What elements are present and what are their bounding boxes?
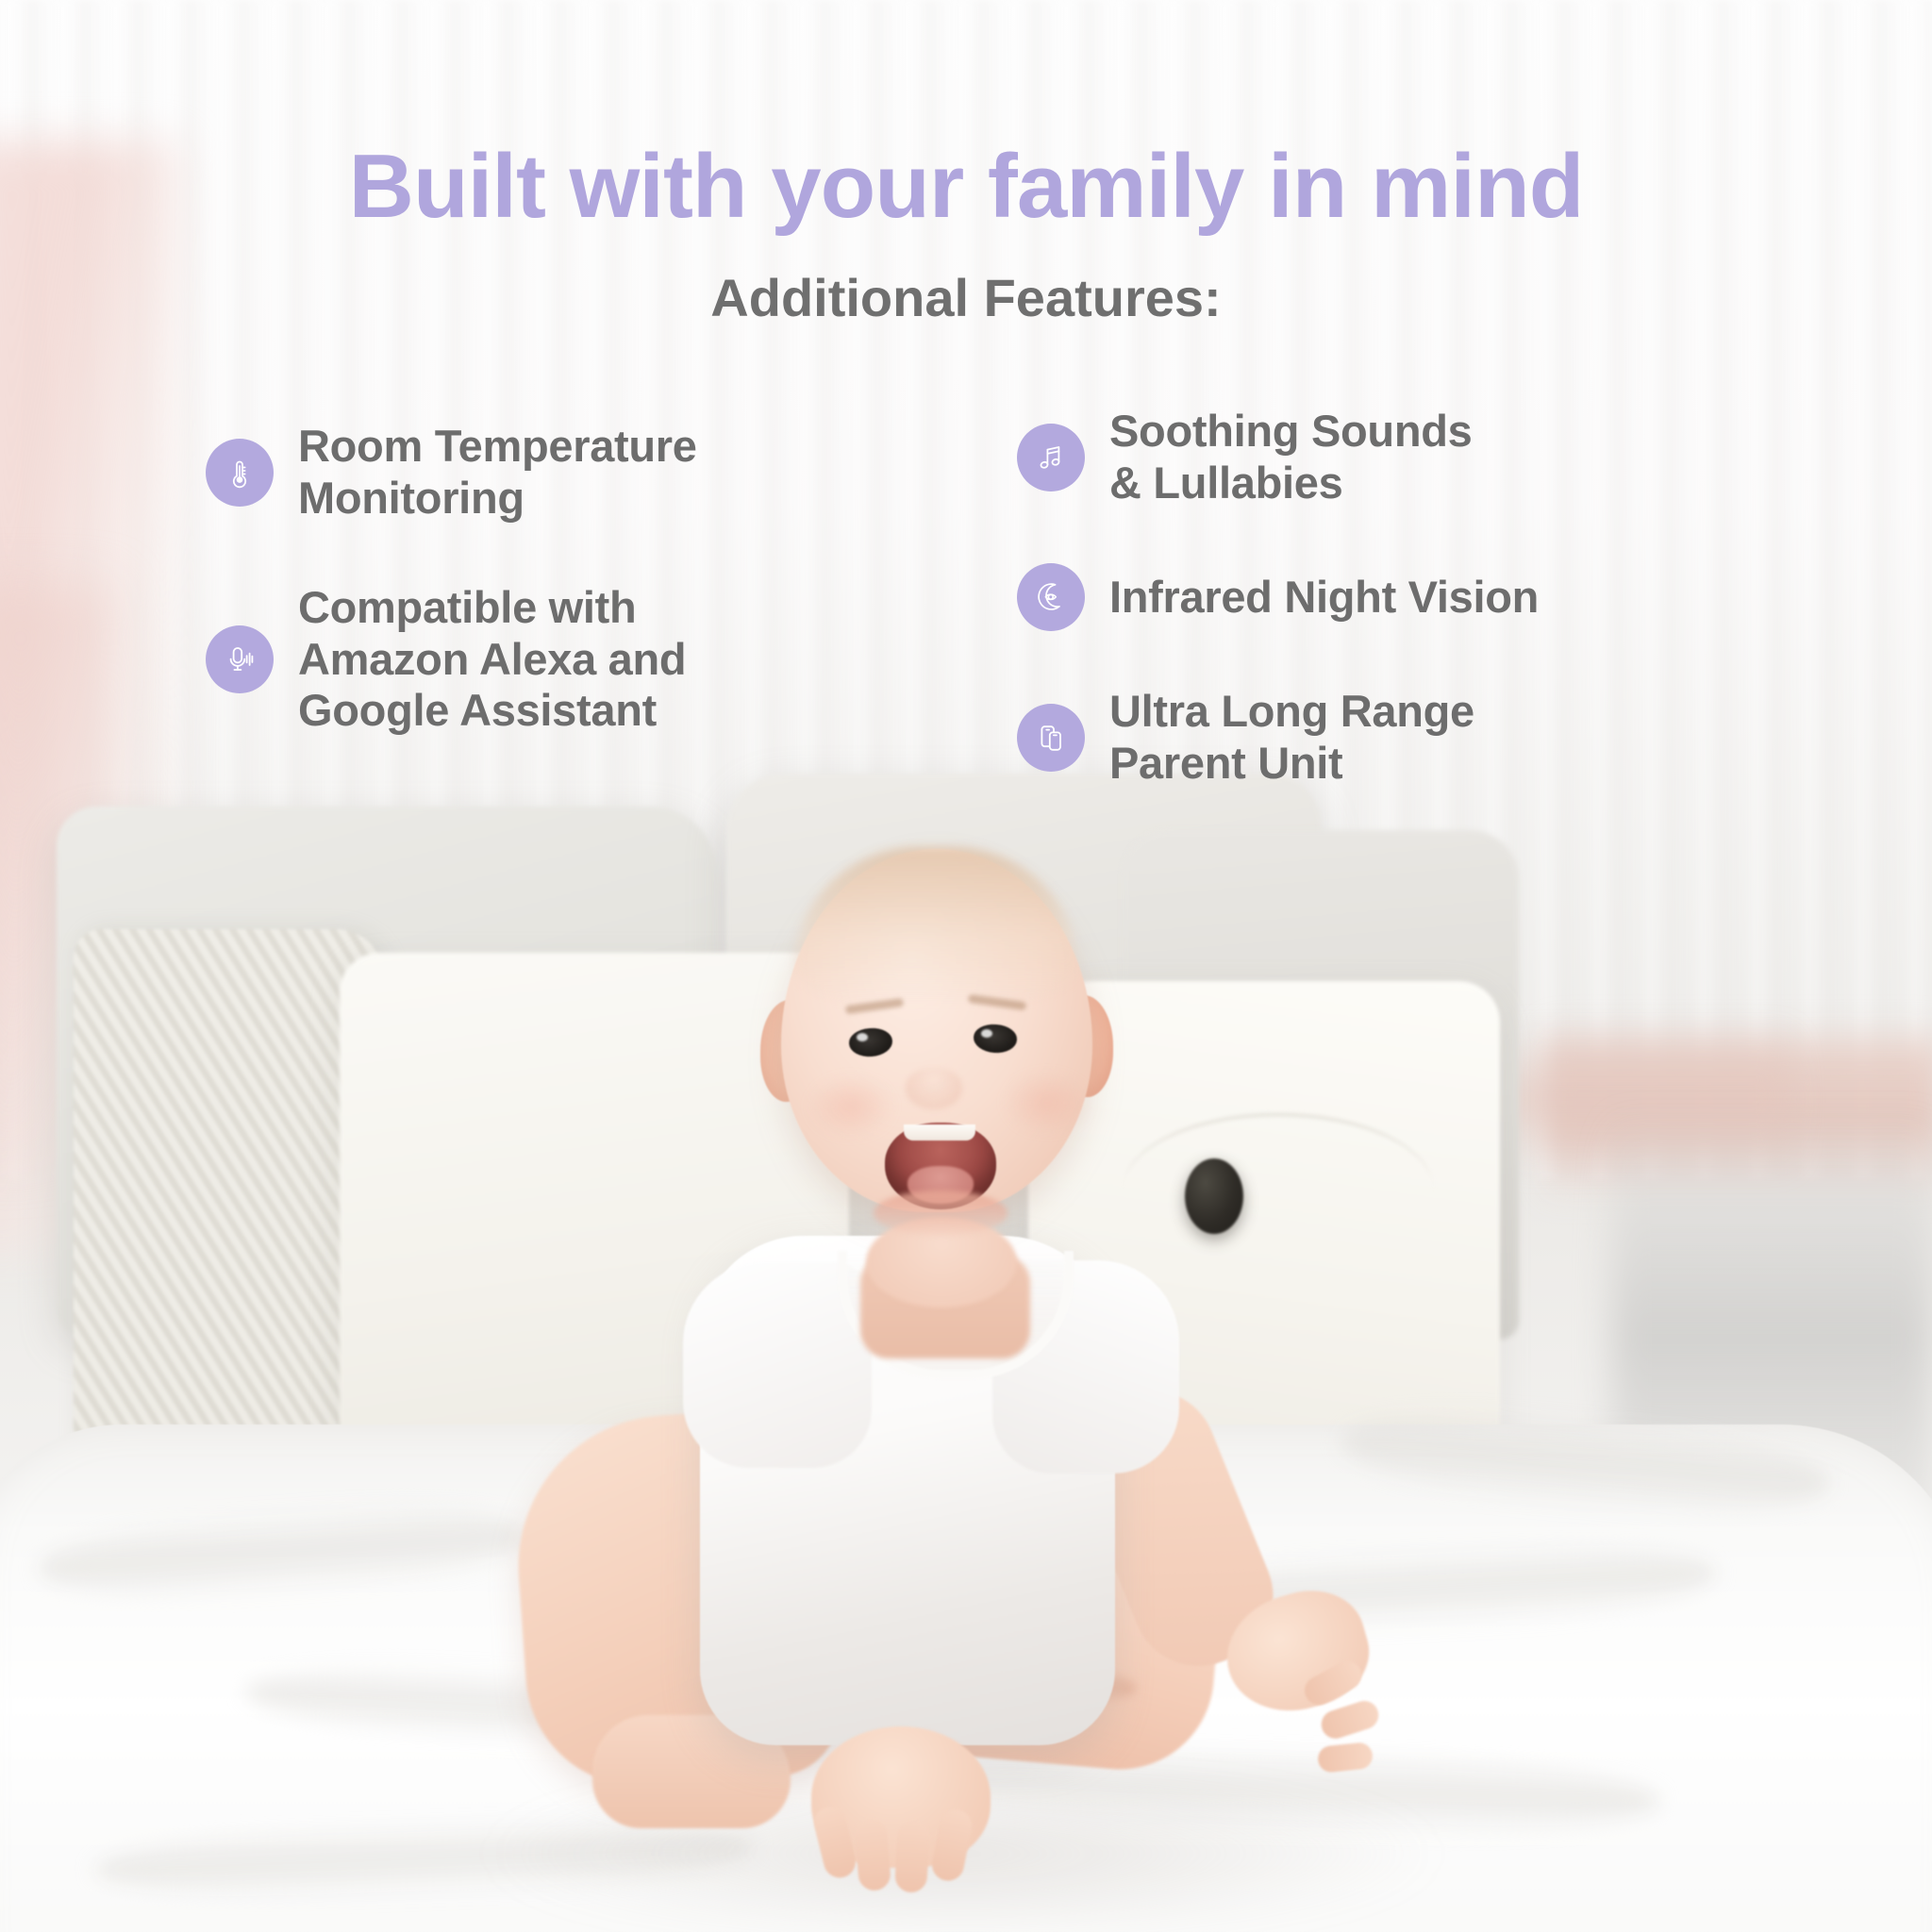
feature-voice-assistant-compatibility: Compatible with Amazon Alexa and Google …: [206, 582, 960, 737]
moon-eye-night-vision-icon: [1017, 563, 1085, 631]
feature-room-temperature-monitoring: Room Temperature Monitoring: [206, 421, 960, 524]
features-column-right: Soothing Sounds & Lullabies Infrared Nig…: [1017, 406, 1772, 789]
music-note-icon: [1017, 424, 1085, 491]
feature-label: Soothing Sounds & Lullabies: [1109, 406, 1473, 508]
thermometer-icon: [206, 439, 274, 507]
features-column-left: Room Temperature Monitoring: [206, 406, 960, 789]
feature-soothing-sounds-lullabies: Soothing Sounds & Lullabies: [1017, 406, 1772, 508]
feature-label: Infrared Night Vision: [1109, 572, 1539, 624]
features-grid: Room Temperature Monitoring: [206, 406, 1772, 789]
feature-label: Room Temperature Monitoring: [298, 421, 697, 524]
feature-label: Compatible with Amazon Alexa and Google …: [298, 582, 686, 737]
feature-infrared-night-vision: Infrared Night Vision: [1017, 563, 1772, 631]
page-headline: Built with your family in mind: [0, 142, 1932, 232]
two-devices-icon: [1017, 704, 1085, 772]
microphone-voice-icon: [206, 625, 274, 693]
page-subheadline: Additional Features:: [0, 272, 1932, 325]
text-overlay: Built with your family in mind Additiona…: [0, 0, 1932, 1932]
feature-ultra-long-range-parent-unit: Ultra Long Range Parent Unit: [1017, 686, 1772, 789]
feature-label: Ultra Long Range Parent Unit: [1109, 686, 1474, 789]
product-feature-graphic: Built with your family in mind Additiona…: [0, 0, 1932, 1932]
